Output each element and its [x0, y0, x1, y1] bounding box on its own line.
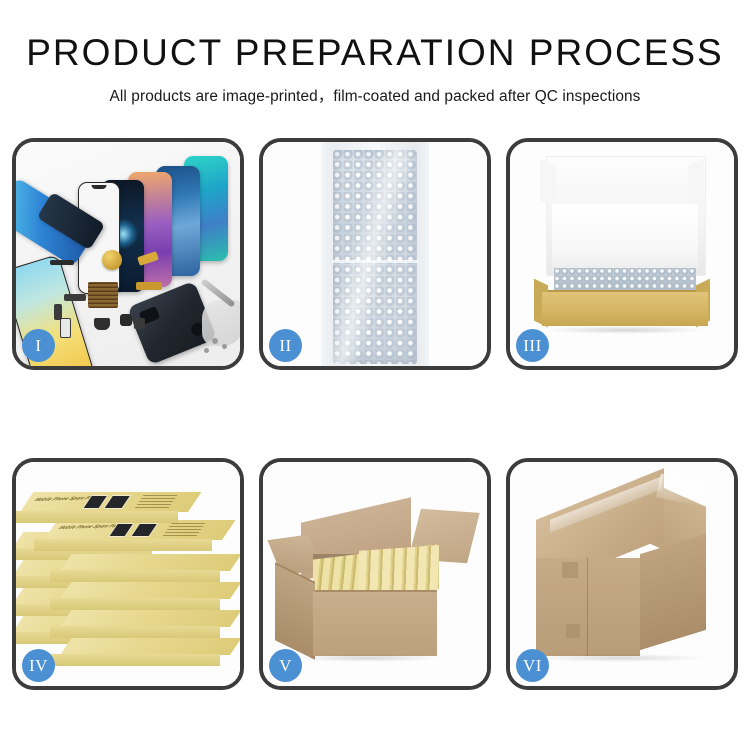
box-front-face: [34, 539, 212, 551]
part-chip-icon: [134, 318, 145, 329]
inner-box-lid-right-flap: [688, 159, 704, 207]
step-badge-3: III: [516, 329, 549, 362]
box-spec-line: [167, 529, 202, 530]
inner-box-foam-liner: [552, 204, 698, 270]
box-front-face: [16, 511, 178, 523]
part-screw-3-icon: [204, 348, 209, 353]
stacked-box-r3: [60, 610, 230, 638]
inner-box-shadow: [544, 326, 706, 334]
step-panel-2: II: [259, 138, 491, 370]
part-screw-2-icon: [222, 344, 227, 349]
step-badge-5: V: [269, 649, 302, 682]
part-coil-icon: [102, 250, 122, 270]
box-spec-line: [135, 507, 170, 508]
sealed-carton-patch-bottom: [566, 624, 580, 638]
box-spec-line: [163, 535, 198, 536]
part-flex-cable-2-icon: [136, 282, 162, 290]
bubble-sheen: [333, 150, 417, 364]
steps-grid: I II: [12, 138, 738, 690]
page-subtitle: All products are image-printed，film-coat…: [0, 84, 750, 106]
stacked-box-printed-a: Mobile Phone Spare Parts: [20, 492, 188, 520]
step-badge-2: II: [269, 329, 302, 362]
part-speaker-icon: [94, 318, 110, 330]
box-spec-line: [137, 504, 172, 505]
step-panel-6: VI: [506, 458, 738, 690]
sealed-carton-right-face: [640, 534, 706, 650]
part-battery-icon: [60, 318, 71, 338]
box-front-face: [50, 598, 220, 610]
step-badge-6: VI: [516, 649, 549, 682]
step-panel-3: III: [506, 138, 738, 370]
box-front-face: [50, 626, 220, 638]
part-bar-icon: [50, 260, 74, 265]
stacked-box-r1: [60, 554, 230, 582]
page-title: PRODUCT PREPARATION PROCESS: [0, 34, 750, 73]
header: PRODUCT PREPARATION PROCESS All products…: [0, 0, 750, 106]
step-panel-1: I: [12, 138, 244, 370]
box-front-face: [50, 654, 220, 666]
part-screw-1-icon: [212, 338, 218, 344]
step-badge-1: I: [22, 329, 55, 362]
carton-contents-boxes-upper: [359, 545, 439, 595]
box-spec-line: [171, 523, 206, 524]
box-top-face: [60, 554, 240, 571]
box-spec-line: [141, 498, 176, 499]
carton-front-face: [313, 592, 437, 656]
box-top-face: [60, 582, 240, 599]
box-top-face: Mobile Phone Spare Parts: [20, 492, 201, 512]
box-spec-line: [165, 532, 200, 533]
inner-box-front-kraft: [542, 292, 708, 326]
step-badge-4: IV: [22, 649, 55, 682]
box-front-face: [50, 570, 220, 582]
part-mesh-grille-icon: [88, 282, 118, 308]
sealed-carton-shadow: [534, 654, 706, 662]
sealed-carton-patch-top: [562, 562, 578, 578]
stacked-box-printed-b: Mobile Phone Spare Parts: [44, 520, 222, 548]
step-panel-5: V: [259, 458, 491, 690]
part-hand-icon: [202, 300, 240, 346]
box-top-face: Mobile Phone Spare Parts: [44, 520, 235, 540]
sealed-carton-seam: [587, 558, 588, 656]
box-spec-line: [139, 501, 174, 502]
step-panel-4: Mobile Phone Spare Parts: [12, 458, 244, 690]
box-top-face: [60, 610, 240, 627]
product-preparation-infographic: PRODUCT PREPARATION PROCESS All products…: [0, 0, 750, 750]
box-art-swatch-b2: [130, 523, 158, 537]
box-top-face: [60, 638, 240, 655]
stacked-box-r2: [60, 582, 230, 610]
inner-box-lid-left-flap: [540, 159, 556, 207]
box-spec-line: [169, 526, 204, 527]
part-flex-cable-3-icon: [64, 294, 86, 301]
stacked-box-r4: [60, 638, 230, 666]
part-camera-module-icon: [120, 314, 132, 326]
carton-shadow: [293, 654, 443, 662]
box-art-swatch-a2: [103, 495, 131, 509]
box-spec-line: [143, 495, 178, 496]
